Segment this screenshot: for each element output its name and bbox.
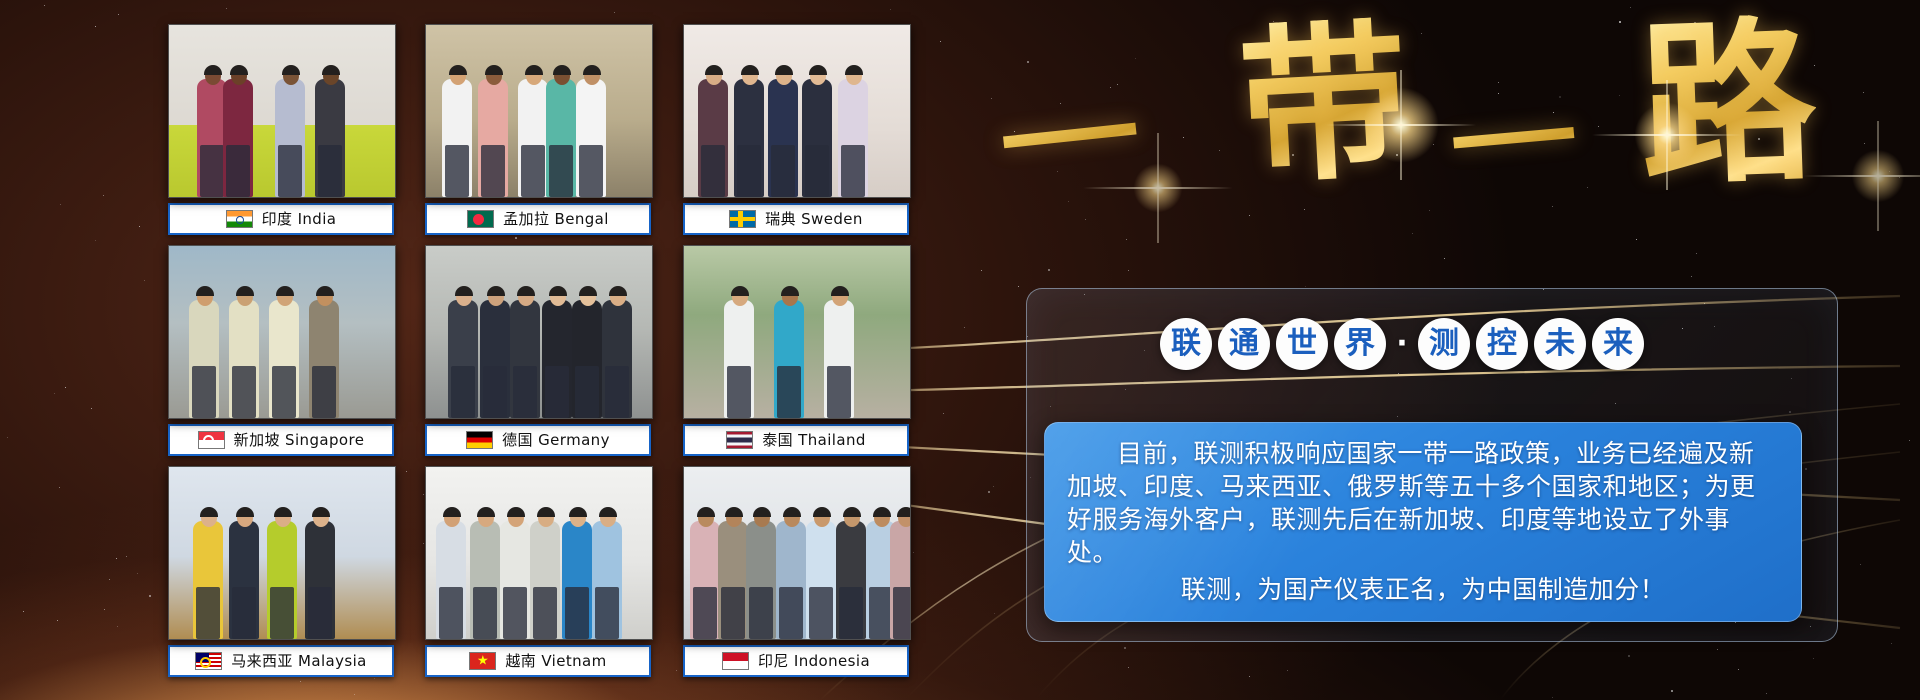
country-card[interactable]: 马来西亚 Malaysia [168,466,394,677]
star-speck [1018,286,1019,287]
photo-figure-legs [749,587,773,639]
country-label: 印尼 Indonesia [758,654,870,669]
country-card[interactable]: 德国 Germany [425,245,651,456]
star-speck [1891,643,1892,644]
country-photo [168,466,396,640]
star-speck [103,195,104,196]
photo-figure-legs [893,587,911,639]
country-card[interactable]: 印度 India [168,24,394,235]
star-speck [60,204,61,205]
country-photo [168,245,396,419]
country-card[interactable]: 瑞典 Sweden [683,24,909,235]
photo-figure-legs [232,366,256,418]
message-paragraph-2: 联测，为国产仪表正名，为中国制造加分！ [1067,573,1779,606]
star-speck [44,5,45,6]
country-label: 马来西亚 Malaysia [231,654,367,669]
star-speck [1287,670,1288,671]
star-speck [23,611,24,612]
photo-figure-legs [439,587,463,639]
slogan-bubble-4: 界 [1334,318,1386,370]
country-photo [425,466,653,640]
photo-figure-legs [771,145,795,197]
country-photo [683,466,911,640]
country-caption[interactable]: 孟加拉 Bengal [425,203,651,235]
star-speck [354,694,355,695]
star-speck [1717,649,1718,650]
country-caption[interactable]: 越南 Vietnam [425,645,651,677]
star-speck [1085,219,1086,220]
slogan-separator: · [1392,329,1412,359]
star-speck [1429,210,1430,211]
star-speck [1126,239,1127,240]
country-label: 印度 India [262,212,337,227]
photo-figure-legs [693,587,717,639]
photo-figure-legs [312,366,336,418]
star-speck [226,8,227,9]
country-caption[interactable]: 泰国 Thailand [683,424,909,456]
country-photo [425,24,653,198]
country-card[interactable]: 越南 Vietnam [425,466,651,677]
photo-figure-legs [192,366,216,418]
country-label: 瑞典 Sweden [765,212,863,227]
star-speck [1552,697,1553,698]
photo-figure-legs [278,145,302,197]
country-label: 新加坡 Singapore [234,433,365,448]
slogan-bubble-7: 未 [1534,318,1586,370]
star-speck [1124,647,1126,649]
star-speck [994,613,995,614]
flag-sweden-icon [729,210,756,228]
star-speck [1048,269,1050,271]
star-speck [1766,693,1767,694]
star-speck [1249,676,1250,677]
photo-figure-legs [473,587,497,639]
photo-figure-legs [565,587,589,639]
photo-figure-legs [503,587,527,639]
photo-figure-legs [809,587,833,639]
star-speck [54,393,55,394]
country-photo [683,24,911,198]
star-speck [59,487,60,488]
star-speck [65,387,66,388]
star-speck [117,626,118,627]
photo-figure-legs [777,366,801,418]
country-photo [168,24,396,198]
photo-figure-legs [232,587,256,639]
star-speck [1671,690,1673,692]
flag-thailand-icon [726,431,753,449]
photo-figure-legs [200,145,224,197]
star-speck [57,620,58,621]
photo-figure-legs [779,587,803,639]
flag-singapore-icon [198,431,225,449]
star-speck [1128,270,1129,271]
country-photo-grid: 印度 India孟加拉 Bengal瑞典 Sweden新加坡 Singapore… [168,24,916,684]
photo-figure-legs [737,145,761,197]
photo-figure-legs [451,366,475,418]
star-speck [7,437,8,438]
photo-figure-legs [318,145,342,197]
star-speck [991,98,992,99]
star-speck [1444,258,1445,259]
star-speck [964,327,965,328]
star-speck [890,9,891,10]
photo-figure-legs [196,587,220,639]
star-speck [1696,253,1697,254]
photo-figure-legs [839,587,863,639]
photo-figure-legs [545,366,569,418]
photo-figure-legs [805,145,829,197]
star-speck [940,41,941,42]
star-speck [137,573,138,574]
star-speck [1249,215,1250,216]
star-speck [1630,7,1631,8]
slogan-bubble-8: 来 [1592,318,1644,370]
slogan-row: 联通世界·测控未来 [1160,318,1644,370]
message-paragraph-1: 目前，联测积极响应国家一带一路政策，业务已经遍及新加坡、印度、马来西亚、俄罗斯等… [1067,437,1779,569]
flag-india-icon [226,210,253,228]
star-speck [1128,667,1129,668]
star-speck [139,226,140,227]
banner-root: 印度 India孟加拉 Bengal瑞典 Sweden新加坡 Singapore… [0,0,1920,700]
calligraphy-title: 一 带 一 路 [1010,10,1900,210]
photo-figure-legs [481,145,505,197]
photo-figure-legs [533,587,557,639]
star-speck [91,408,92,409]
slogan-bubble-1: 联 [1160,318,1212,370]
star-speck [1305,286,1306,287]
photo-figure-legs [579,145,603,197]
photo-figure-legs [272,366,296,418]
slogan-bubble-3: 世 [1276,318,1328,370]
star-speck [1412,233,1413,234]
star-speck [993,486,994,487]
country-caption[interactable]: 瑞典 Sweden [683,203,909,235]
photo-figure-legs [549,145,573,197]
star-speck [988,491,990,493]
star-speck [1909,440,1910,441]
star-speck [1628,655,1630,657]
country-card[interactable]: 印尼 Indonesia [683,466,909,677]
star-speck [1813,658,1814,659]
photo-figure-legs [595,587,619,639]
country-caption[interactable]: 印度 India [168,203,394,235]
photo-figure-legs [841,145,865,197]
photo-figure-legs [521,145,545,197]
star-speck [109,579,110,580]
calligraphy-char-3: 一 [1446,89,1581,198]
country-card[interactable]: 新加坡 Singapore [168,245,394,456]
star-speck [95,240,96,241]
lens-flare-icon [1848,146,1908,206]
country-photo [425,245,653,419]
star-speck [943,413,944,414]
country-label: 越南 Vietnam [505,654,606,669]
photo-figure-legs [727,366,751,418]
photo-figure-legs [445,145,469,197]
star-speck [1860,564,1861,565]
slogan-bubble-2: 通 [1218,318,1270,370]
photo-figure-legs [701,145,725,197]
country-caption[interactable]: 印尼 Indonesia [683,645,909,677]
calligraphy-char-2: 带 [1236,16,1413,193]
photo-figure-legs [605,366,629,418]
country-label: 孟加拉 Bengal [503,212,609,227]
photo-figure-legs [308,587,332,639]
country-label: 泰国 Thailand [762,433,866,448]
photo-figure-legs [270,587,294,639]
country-card[interactable]: 孟加拉 Bengal [425,24,651,235]
about-message-panel: 目前，联测积极响应国家一带一路政策，业务已经遍及新加坡、印度、马来西亚、俄罗斯等… [1044,422,1802,622]
flag-vietnam-icon [469,652,496,670]
star-speck [95,26,96,27]
country-card[interactable]: 泰国 Thailand [683,245,909,456]
calligraphy-char-1: 一 [995,81,1146,199]
photo-figure-legs [575,366,599,418]
country-label: 德国 Germany [502,433,610,448]
slogan-bubble-6: 控 [1476,318,1528,370]
country-photo [683,245,911,419]
star-speck [144,280,145,281]
star-speck [118,14,119,15]
star-speck [126,556,127,557]
calligraphy-char-4: 路 [1637,13,1819,195]
star-speck [104,609,105,610]
country-caption[interactable]: 马来西亚 Malaysia [168,645,394,677]
star-speck [149,595,151,597]
star-speck [116,558,117,559]
photo-figure-hair [897,507,911,517]
country-caption[interactable]: 德国 Germany [425,424,651,456]
flag-indonesia-icon [722,652,749,670]
photo-figure-legs [721,587,745,639]
star-speck [1691,276,1692,277]
photo-figure-legs [226,145,250,197]
flag-bangladesh-icon [467,210,494,228]
photo-figure-legs [513,366,537,418]
star-speck [981,270,982,271]
photo-figure-legs [827,366,851,418]
photo-figure-legs [483,366,507,418]
slogan-bubble-5: 测 [1418,318,1470,370]
star-speck [1738,669,1739,670]
flag-germany-icon [466,431,493,449]
star-speck [614,12,615,13]
country-caption[interactable]: 新加坡 Singapore [168,424,394,456]
star-speck [1636,239,1637,240]
flag-malaysia-icon [195,652,222,670]
